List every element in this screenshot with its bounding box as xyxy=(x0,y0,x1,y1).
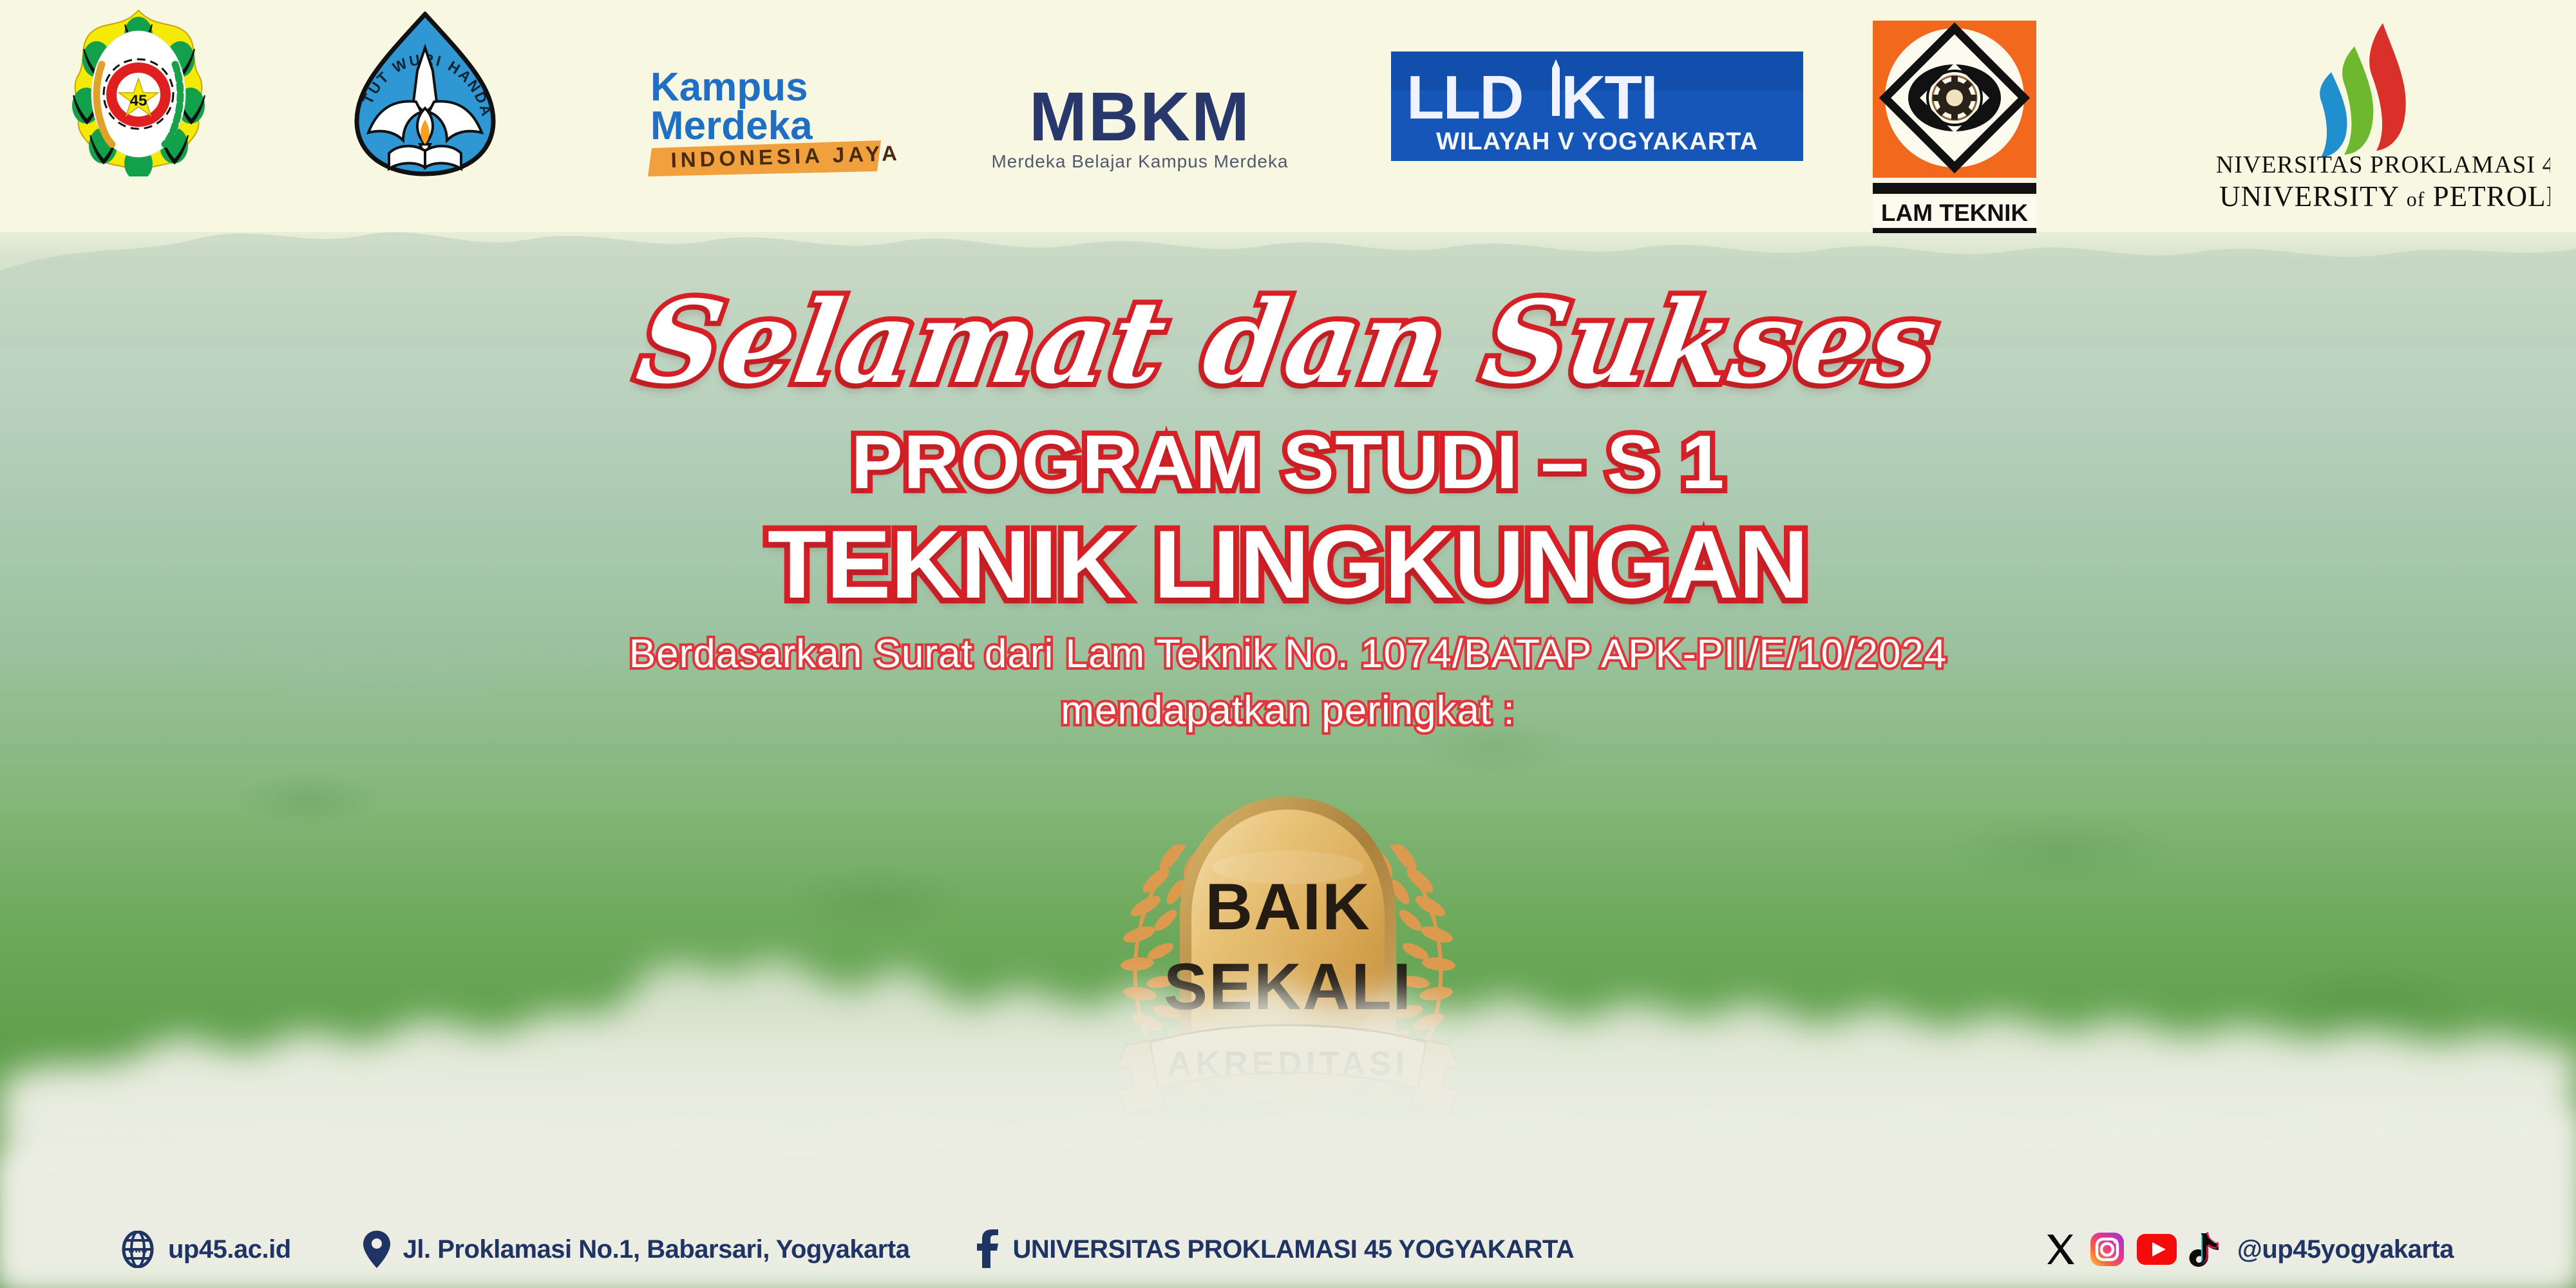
footer-address: Jl. Proklamasi No.1, Babarsari, Yogyakar… xyxy=(362,1229,910,1269)
seal-ribbon-text: AKREDITASI xyxy=(1168,1045,1408,1083)
svg-text:www: www xyxy=(128,1245,148,1255)
script-headline: Selamat dan Sukses xyxy=(0,276,2576,409)
svg-text:Merdeka Belajar Kampus Merdeka: Merdeka Belajar Kampus Merdeka xyxy=(991,151,1288,171)
svg-text:Kampus: Kampus xyxy=(650,65,808,109)
facebook-icon xyxy=(974,1229,1001,1269)
lam-teknik-logo: LAM TEKNIK xyxy=(1861,21,2048,233)
lldikti-logo: LLD KTI WILAYAH V YOGYAKARTA xyxy=(1391,52,1803,161)
kampus-merdeka-logo: Kampus Merdeka INDONESIA JAYA xyxy=(644,58,902,177)
up45-crest-logo: 45 xyxy=(58,9,219,176)
svg-text:UNIVERSITAS PROKLAMASI 45: UNIVERSITAS PROKLAMASI 45 xyxy=(2215,151,2550,178)
svg-text:LAM TEKNIK: LAM TEKNIK xyxy=(1881,200,2028,226)
tiktok-icon[interactable] xyxy=(2188,1231,2221,1268)
footer-socials: @up45yogyakarta xyxy=(2043,1231,2454,1268)
accreditation-seal: BAIK SEKALI AKREDITASI xyxy=(1088,770,1488,1156)
website-label: up45.ac.id xyxy=(168,1235,291,1264)
youtube-icon[interactable] xyxy=(2136,1231,2178,1267)
rank-intro: mendapatkan peringkat : xyxy=(0,688,2576,734)
location-pin-icon xyxy=(362,1229,392,1269)
svg-text:WILAYAH V YOGYAKARTA: WILAYAH V YOGYAKARTA xyxy=(1436,128,1758,155)
facebook-label: UNIVERSITAS PROKLAMASI 45 YOGYAKARTA xyxy=(1012,1235,1574,1264)
decree-line: Berdasarkan Surat dari Lam Teknik No. 10… xyxy=(0,631,2576,677)
x-twitter-icon[interactable] xyxy=(2043,1231,2079,1267)
seal-rank-line2: SEKALI xyxy=(1164,950,1412,1023)
svg-text:LLD: LLD xyxy=(1406,63,1523,132)
program-name: TEKNIK LINGKUNGAN xyxy=(0,509,2576,620)
tut-wuri-handayani-logo: TUT WURI HANDAYANI xyxy=(341,12,509,176)
university-of-petroleum-logo: UNIVERSITAS PROKLAMASI 45 THE UNIVERSITY… xyxy=(2215,12,2550,218)
footer-website[interactable]: www up45.ac.id xyxy=(119,1231,291,1268)
footer-bar: www up45.ac.id Jl. Proklamasi No.1, Baba… xyxy=(0,1211,2576,1288)
accreditation-banner: 45 TUT WURI HANDAYANI Kampus xyxy=(0,0,2576,1288)
seal-rank-line1: BAIK xyxy=(1205,870,1370,943)
address-label: Jl. Proklamasi No.1, Babarsari, Yogyakar… xyxy=(403,1235,910,1264)
partner-logo-strip: 45 TUT WURI HANDAYANI Kampus xyxy=(0,0,2576,238)
globe-icon: www xyxy=(119,1231,156,1268)
footer-facebook[interactable]: UNIVERSITAS PROKLAMASI 45 YOGYAKARTA xyxy=(974,1229,1574,1269)
social-handle-label: @up45yogyakarta xyxy=(2237,1235,2454,1264)
svg-text:Merdeka: Merdeka xyxy=(650,104,813,148)
program-line: PROGRAM STUDI – S 1 xyxy=(0,419,2576,506)
svg-text:MBKM: MBKM xyxy=(1029,77,1251,155)
svg-text:THE UNIVERSITY of PETROLEUM: THE UNIVERSITY of PETROLEUM xyxy=(2215,180,2550,213)
instagram-icon[interactable] xyxy=(2089,1231,2125,1267)
mbkm-logo: MBKM Merdeka Belajar Kampus Merdeka xyxy=(969,77,1311,177)
svg-text:KTI: KTI xyxy=(1561,63,1657,132)
svg-text:45: 45 xyxy=(130,92,147,109)
